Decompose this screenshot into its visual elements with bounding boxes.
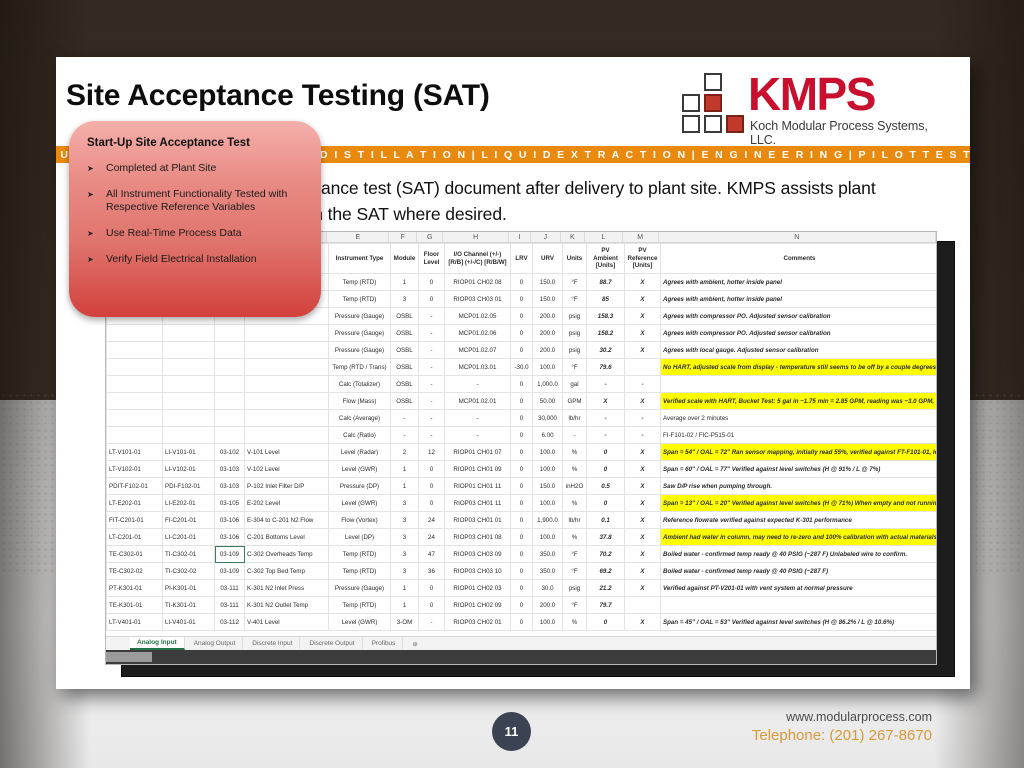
cell-urv[interactable]: 200.0 [533, 342, 563, 359]
table-row[interactable]: Pressure (Gauge)OSBL-MCP01.02.060200.0ps… [107, 325, 938, 342]
cell-comment[interactable]: Agrees with compressor PO. Adjusted sens… [661, 325, 938, 342]
cell-units[interactable]: psig [563, 325, 587, 342]
cell-service[interactable]: V-102 Level [245, 461, 329, 478]
cell-urv[interactable]: 100.0 [533, 495, 563, 512]
cell-pv-reference[interactable]: - [625, 427, 661, 444]
column-letter-j[interactable]: J [531, 232, 561, 242]
cell-type[interactable]: Pressure (DP) [329, 478, 391, 495]
table-row[interactable]: Calc (Ratio)---06.00---FI-F101-02 / FIC-… [107, 427, 938, 444]
cell-lrv[interactable]: 0 [511, 342, 533, 359]
cell-units[interactable]: % [563, 461, 587, 478]
table-row[interactable]: FIT-C201-01FI-C201-0103-106E-304 to C-20… [107, 512, 938, 529]
cell-tag[interactable] [107, 376, 163, 393]
cell-floor[interactable]: - [419, 342, 445, 359]
cell-module[interactable]: 3-OM [391, 614, 419, 631]
cell-pv-ambient[interactable]: 37.8 [587, 529, 625, 546]
cell-pv-reference[interactable]: X [625, 342, 661, 359]
cell-module[interactable]: OSBL [391, 376, 419, 393]
table-row[interactable]: PDIT-F102-01PDI-F102-0103-103P-102 Inlet… [107, 478, 938, 495]
cell-pv-ambient[interactable]: 69.2 [587, 563, 625, 580]
cell-units[interactable]: lb/hr [563, 410, 587, 427]
cell-service[interactable]: C-201 Bottoms Level [245, 529, 329, 546]
cell-service[interactable] [245, 359, 329, 376]
sheet-tab-discrete-output[interactable]: Discrete Output [302, 638, 362, 649]
cell-tag[interactable]: LT-V401-01 [107, 614, 163, 631]
cell-pv-ambient[interactable]: X [587, 393, 625, 410]
cell-pv-reference[interactable]: X [625, 308, 661, 325]
cell-comment[interactable]: Span = 60" / OAL = 77" Verified against … [661, 461, 938, 478]
cell-floor[interactable]: - [419, 359, 445, 376]
cell-type[interactable]: Pressure (Gauge) [329, 580, 391, 597]
cell-pv-reference[interactable]: X [625, 291, 661, 308]
cell-pv-ambient[interactable]: 79.6 [587, 359, 625, 376]
cell-comment[interactable]: FI-F101-02 / FIC-P515-01 [661, 427, 938, 444]
cell-pv-ambient[interactable]: 0 [587, 614, 625, 631]
cell-urv[interactable]: 100.0 [533, 529, 563, 546]
cell-lrv[interactable]: 0 [511, 461, 533, 478]
cell-service[interactable] [245, 342, 329, 359]
cell-pv-reference[interactable]: - [625, 376, 661, 393]
cell-urv[interactable]: 100.0 [533, 461, 563, 478]
scrollbar-thumb[interactable] [106, 652, 152, 662]
cell-module[interactable]: OSBL [391, 308, 419, 325]
cell-pv-ambient[interactable]: 0.5 [587, 478, 625, 495]
table-row[interactable]: TE-C302-01TI-C302-0103-109C-302 Overhead… [107, 546, 938, 563]
cell-comment[interactable]: Span = 45" / OAL = 53" Verified against … [661, 614, 938, 631]
cell-tag[interactable] [107, 359, 163, 376]
cell-tag[interactable]: TE-K301-01 [107, 597, 163, 614]
cell-urv[interactable]: 150.0 [533, 291, 563, 308]
sheet-tab-analog-output[interactable]: Analog Output [187, 638, 244, 649]
cell-lrv[interactable]: 0 [511, 291, 533, 308]
cell-module[interactable]: 3 [391, 529, 419, 546]
cell-pv-reference[interactable] [625, 359, 661, 376]
cell-comment[interactable]: Span = 13" / OAL = 20" Verified against … [661, 495, 938, 512]
cell-lrv[interactable]: 0 [511, 529, 533, 546]
cell-pv-reference[interactable]: X [625, 478, 661, 495]
cell-tag[interactable] [107, 325, 163, 342]
cell-dwg[interactable]: 03-111 [215, 580, 245, 597]
cell-dwg[interactable] [215, 342, 245, 359]
cell-lrv[interactable]: 0 [511, 512, 533, 529]
cell-lrv[interactable]: -30.0 [511, 359, 533, 376]
cell-io[interactable]: RIOP03 CH02 01 [445, 614, 511, 631]
cell-service[interactable]: E-202 Level [245, 495, 329, 512]
cell-floor[interactable]: 0 [419, 597, 445, 614]
cell-comment[interactable]: Verified against PT-V201-01 with vent sy… [661, 580, 938, 597]
cell-comment[interactable]: Span = 54" / OAL = 72" Ran sensor mappin… [661, 444, 938, 461]
cell-units[interactable]: °F [563, 563, 587, 580]
cell-pv-ambient[interactable]: - [587, 410, 625, 427]
cell-floor[interactable]: - [419, 614, 445, 631]
cell-comment[interactable]: No HART, adjusted scale from display - t… [661, 359, 938, 376]
cell-type[interactable]: Calc (Ratio) [329, 427, 391, 444]
cell-pv-reference[interactable]: X [625, 512, 661, 529]
cell-units[interactable]: psig [563, 342, 587, 359]
cell-type[interactable]: Level (GWR) [329, 495, 391, 512]
column-letter-k[interactable]: K [561, 232, 585, 242]
cell-comment[interactable]: Verified scale with HART, Bucket Test: 5… [661, 393, 938, 410]
cell-urv[interactable]: 50.00 [533, 393, 563, 410]
column-letter-i[interactable]: I [509, 232, 531, 242]
cell-comment[interactable]: Boiled water - confirmed temp ready @ 40… [661, 563, 938, 580]
cell-floor[interactable]: 0 [419, 580, 445, 597]
cell-pv-ambient[interactable]: 0 [587, 444, 625, 461]
cell-pv-ambient[interactable]: 79.7 [587, 597, 625, 614]
cell-units[interactable]: psig [563, 580, 587, 597]
cell-units[interactable]: lb/hr [563, 512, 587, 529]
cell-type[interactable]: Temp (RTD) [329, 546, 391, 563]
sheet-tab-analog-input[interactable]: Analog Input [130, 637, 185, 650]
cell-dwg[interactable] [215, 410, 245, 427]
table-row[interactable]: Calc (Average)---030,000lb/hr--Average o… [107, 410, 938, 427]
cell-module[interactable]: 3 [391, 495, 419, 512]
cell-indicator[interactable]: LI-E202-01 [163, 495, 215, 512]
table-row[interactable]: Temp (RTD / Trans)OSBL-MCP01.03.01-30.01… [107, 359, 938, 376]
cell-tag[interactable]: PT-K301-01 [107, 580, 163, 597]
cell-tag[interactable] [107, 393, 163, 410]
cell-comment[interactable]: Agrees with local gauge. Adjusted sensor… [661, 342, 938, 359]
cell-urv[interactable]: 100.0 [533, 444, 563, 461]
cell-pv-ambient[interactable]: 70.2 [587, 546, 625, 563]
cell-floor[interactable]: - [419, 376, 445, 393]
cell-tag[interactable]: TE-C302-02 [107, 563, 163, 580]
cell-service[interactable]: V-401 Level [245, 614, 329, 631]
table-row[interactable]: LT-E202-01LI-E202-0103-105E-202 LevelLev… [107, 495, 938, 512]
cell-floor[interactable]: 24 [419, 512, 445, 529]
cell-units[interactable]: °F [563, 546, 587, 563]
cell-urv[interactable]: 350.0 [533, 546, 563, 563]
cell-comment[interactable]: Boiled water - confirmed temp ready @ 40… [661, 546, 938, 563]
cell-io[interactable]: RIOP01 CH01 09 [445, 461, 511, 478]
cell-units[interactable]: % [563, 495, 587, 512]
cell-floor[interactable]: - [419, 393, 445, 410]
cell-floor[interactable]: 12 [419, 444, 445, 461]
cell-io[interactable]: MCP01.02.01 [445, 393, 511, 410]
cell-dwg[interactable] [215, 325, 245, 342]
cell-type[interactable]: Temp (RTD) [329, 597, 391, 614]
cell-urv[interactable]: 100.0 [533, 359, 563, 376]
cell-indicator[interactable]: PDI-F102-01 [163, 478, 215, 495]
cell-units[interactable]: °F [563, 359, 587, 376]
cell-module[interactable]: 3 [391, 291, 419, 308]
cell-units[interactable]: % [563, 529, 587, 546]
cell-io[interactable]: - [445, 376, 511, 393]
cell-module[interactable]: 1 [391, 461, 419, 478]
cell-comment[interactable]: Agrees with compressor PO. Adjusted sens… [661, 308, 938, 325]
cell-dwg[interactable]: 03-109 [215, 563, 245, 580]
cell-service[interactable]: P-102 Inlet Filter D/P [245, 478, 329, 495]
cell-comment[interactable]: Reference flowrate verified against expe… [661, 512, 938, 529]
table-row[interactable]: LT-C201-01LI-C201-0103-106C-201 Bottoms … [107, 529, 938, 546]
cell-module[interactable]: 3 [391, 563, 419, 580]
cell-units[interactable]: % [563, 614, 587, 631]
cell-lrv[interactable]: 0 [511, 308, 533, 325]
table-row[interactable]: LT-V101-01LI-V101-0103-102V-101 LevelLev… [107, 444, 938, 461]
cell-type[interactable]: Pressure (Gauge) [329, 342, 391, 359]
cell-type[interactable]: Pressure (Gauge) [329, 308, 391, 325]
cell-module[interactable]: - [391, 410, 419, 427]
cell-lrv[interactable]: 0 [511, 444, 533, 461]
cell-lrv[interactable]: 0 [511, 495, 533, 512]
cell-floor[interactable]: - [419, 308, 445, 325]
cell-lrv[interactable]: 0 [511, 393, 533, 410]
cell-indicator[interactable]: PI-K301-01 [163, 580, 215, 597]
cell-units[interactable]: gal [563, 376, 587, 393]
cell-module[interactable]: 3 [391, 512, 419, 529]
cell-units[interactable]: psig [563, 308, 587, 325]
cell-floor[interactable]: 0 [419, 274, 445, 291]
cell-indicator[interactable]: LI-C201-01 [163, 529, 215, 546]
cell-lrv[interactable]: 0 [511, 563, 533, 580]
cell-io[interactable]: MCP01.02.05 [445, 308, 511, 325]
cell-module[interactable]: 1 [391, 580, 419, 597]
cell-pv-ambient[interactable]: 0 [587, 461, 625, 478]
cell-indicator[interactable]: LI-V102-01 [163, 461, 215, 478]
cell-pv-reference[interactable]: X [625, 614, 661, 631]
cell-urv[interactable]: 200.0 [533, 325, 563, 342]
cell-pv-reference[interactable]: X [625, 563, 661, 580]
cell-urv[interactable]: 1,900.0 [533, 512, 563, 529]
cell-tag[interactable] [107, 410, 163, 427]
cell-pv-reference[interactable]: X [625, 546, 661, 563]
cell-floor[interactable]: - [419, 325, 445, 342]
cell-pv-reference[interactable]: X [625, 274, 661, 291]
cell-type[interactable]: Flow (Vortex) [329, 512, 391, 529]
sheet-tab-profibus[interactable]: Profibus [365, 638, 404, 649]
cell-comment[interactable]: Agrees with ambient, hotter inside panel [661, 291, 938, 308]
cell-pv-ambient[interactable]: 0 [587, 495, 625, 512]
cell-units[interactable]: °F [563, 291, 587, 308]
cell-service[interactable]: C-302 Top Bed Temp [245, 563, 329, 580]
cell-units[interactable]: °F [563, 597, 587, 614]
cell-urv[interactable]: 30.0 [533, 580, 563, 597]
cell-type[interactable]: Flow (Mass) [329, 393, 391, 410]
cell-dwg[interactable] [215, 376, 245, 393]
column-letter-m[interactable]: M [623, 232, 659, 242]
cell-tag[interactable]: FIT-C201-01 [107, 512, 163, 529]
cell-dwg[interactable]: 03-103 [215, 478, 245, 495]
cell-pv-ambient[interactable]: - [587, 376, 625, 393]
cell-io[interactable]: RIOP01 CH02 03 [445, 580, 511, 597]
cell-io[interactable]: RIOP01 CH01 07 [445, 444, 511, 461]
cell-service[interactable]: V-101 Level [245, 444, 329, 461]
cell-type[interactable]: Temp (RTD) [329, 291, 391, 308]
cell-type[interactable]: Calc (Totalizer) [329, 376, 391, 393]
cell-indicator[interactable]: LI-V401-01 [163, 614, 215, 631]
table-row[interactable]: Flow (Mass)OSBL-MCP01.02.01050.00GPMXXVe… [107, 393, 938, 410]
cell-indicator[interactable] [163, 427, 215, 444]
cell-urv[interactable]: 150.0 [533, 478, 563, 495]
cell-pv-ambient[interactable]: 88.7 [587, 274, 625, 291]
cell-floor[interactable]: 0 [419, 495, 445, 512]
cell-io[interactable]: RIOP03 CH03 01 [445, 291, 511, 308]
cell-dwg[interactable]: 03-112 [215, 614, 245, 631]
cell-indicator[interactable]: TI-C302-02 [163, 563, 215, 580]
cell-service[interactable] [245, 410, 329, 427]
cell-dwg[interactable]: 03-103 [215, 461, 245, 478]
cell-units[interactable]: inH2O [563, 478, 587, 495]
cell-pv-ambient[interactable]: 0.1 [587, 512, 625, 529]
cell-module[interactable]: 1 [391, 597, 419, 614]
cell-type[interactable]: Calc (Average) [329, 410, 391, 427]
cell-indicator[interactable]: FI-C201-01 [163, 512, 215, 529]
cell-service[interactable]: K-301 N2 Inlet Press [245, 580, 329, 597]
cell-lrv[interactable]: 0 [511, 410, 533, 427]
cell-service[interactable] [245, 376, 329, 393]
cell-dwg[interactable]: 03-111 [215, 597, 245, 614]
cell-indicator[interactable] [163, 325, 215, 342]
cell-pv-reference[interactable]: X [625, 444, 661, 461]
cell-service[interactable] [245, 427, 329, 444]
cell-pv-reference[interactable]: X [625, 325, 661, 342]
cell-floor[interactable]: 0 [419, 478, 445, 495]
cell-tag[interactable]: PDIT-F102-01 [107, 478, 163, 495]
cell-floor[interactable]: 24 [419, 529, 445, 546]
cell-type[interactable]: Temp (RTD) [329, 274, 391, 291]
cell-dwg[interactable] [215, 359, 245, 376]
cell-io[interactable]: RIOP01 CH01 11 [445, 478, 511, 495]
cell-pv-reference[interactable]: X [625, 393, 661, 410]
cell-type[interactable]: Level (GWR) [329, 614, 391, 631]
cell-urv[interactable]: 200.0 [533, 308, 563, 325]
cell-urv[interactable]: 350.0 [533, 563, 563, 580]
cell-lrv[interactable]: 0 [511, 325, 533, 342]
column-letter-n[interactable]: N [659, 232, 936, 242]
cell-dwg[interactable]: 03-109 [215, 546, 245, 563]
cell-io[interactable]: RIOP01 CH02 09 [445, 597, 511, 614]
cell-urv[interactable]: 150.0 [533, 274, 563, 291]
table-row[interactable]: TE-C302-02TI-C302-0203-109C-302 Top Bed … [107, 563, 938, 580]
cell-lrv[interactable]: 0 [511, 597, 533, 614]
cell-lrv[interactable]: 0 [511, 274, 533, 291]
cell-service[interactable]: C-302 Overheads Temp [245, 546, 329, 563]
cell-service[interactable] [245, 393, 329, 410]
cell-dwg[interactable]: 03-105 [215, 495, 245, 512]
cell-pv-ambient[interactable]: 158.3 [587, 308, 625, 325]
cell-io[interactable]: RIOP03 CH03 10 [445, 563, 511, 580]
cell-type[interactable]: Pressure (Gauge) [329, 325, 391, 342]
cell-io[interactable]: - [445, 427, 511, 444]
table-row[interactable]: PT-K301-01PI-K301-0103-111K-301 N2 Inlet… [107, 580, 938, 597]
cell-tag[interactable]: LT-C201-01 [107, 529, 163, 546]
sheet-tab-discrete-input[interactable]: Discrete Input [245, 638, 300, 649]
column-letter-g[interactable]: G [417, 232, 443, 242]
cell-tag[interactable] [107, 342, 163, 359]
table-row[interactable]: TE-K301-01TI-K301-0103-111K-301 N2 Outle… [107, 597, 938, 614]
cell-pv-ambient[interactable]: - [587, 427, 625, 444]
cell-comment[interactable]: Average over 2 minutes [661, 410, 938, 427]
cell-dwg[interactable]: 03-102 [215, 444, 245, 461]
column-letter-h[interactable]: H [443, 232, 509, 242]
cell-floor[interactable]: - [419, 410, 445, 427]
cell-urv[interactable]: 6.00 [533, 427, 563, 444]
cell-module[interactable]: 2 [391, 444, 419, 461]
cell-tag[interactable]: LT-E202-01 [107, 495, 163, 512]
cell-lrv[interactable]: 0 [511, 376, 533, 393]
cell-comment[interactable]: Ambient had water in column, may need to… [661, 529, 938, 546]
cell-module[interactable]: OSBL [391, 325, 419, 342]
cell-urv[interactable]: 30,000 [533, 410, 563, 427]
table-row[interactable]: LT-V102-01LI-V102-0103-103V-102 LevelLev… [107, 461, 938, 478]
cell-pv-reference[interactable]: X [625, 580, 661, 597]
cell-units[interactable]: GPM [563, 393, 587, 410]
cell-dwg[interactable] [215, 427, 245, 444]
cell-io[interactable]: RIOP03 CH01 01 [445, 512, 511, 529]
cell-lrv[interactable]: 0 [511, 614, 533, 631]
cell-indicator[interactable]: TI-K301-01 [163, 597, 215, 614]
cell-indicator[interactable] [163, 393, 215, 410]
cell-tag[interactable]: TE-C302-01 [107, 546, 163, 563]
cell-urv[interactable]: 200.0 [533, 597, 563, 614]
horizontal-scrollbar[interactable] [106, 650, 937, 664]
cell-module[interactable]: OSBL [391, 393, 419, 410]
cell-urv[interactable]: 1,000.0 [533, 376, 563, 393]
cell-io[interactable]: RIOP03 CH03 09 [445, 546, 511, 563]
cell-lrv[interactable]: 0 [511, 546, 533, 563]
cell-floor[interactable]: 47 [419, 546, 445, 563]
add-sheet-icon[interactable]: ⊕ [405, 638, 424, 650]
cell-pv-reference[interactable] [625, 597, 661, 614]
cell-urv[interactable]: 100.0 [533, 614, 563, 631]
table-row[interactable]: Pressure (Gauge)OSBL-MCP01.02.070200.0ps… [107, 342, 938, 359]
cell-units[interactable]: °F [563, 274, 587, 291]
cell-comment[interactable] [661, 597, 938, 614]
cell-tag[interactable]: LT-V101-01 [107, 444, 163, 461]
cell-module[interactable]: - [391, 427, 419, 444]
cell-io[interactable]: RIOP01 CH02 08 [445, 274, 511, 291]
cell-io[interactable]: MCP01.03.01 [445, 359, 511, 376]
cell-service[interactable]: K-301 N2 Outlet Temp [245, 597, 329, 614]
cell-service[interactable]: E-304 to C-201 N2 Flow [245, 512, 329, 529]
cell-comment[interactable]: Agrees with ambient, hotter inside panel [661, 274, 938, 291]
cell-io[interactable]: - [445, 410, 511, 427]
cell-type[interactable]: Level (DP) [329, 529, 391, 546]
cell-pv-reference[interactable]: X [625, 529, 661, 546]
cell-tag[interactable] [107, 427, 163, 444]
cell-pv-reference[interactable]: - [625, 410, 661, 427]
sheet-tab-bar[interactable]: Analog InputAnalog OutputDiscrete InputD… [106, 636, 937, 650]
cell-comment[interactable]: Saw D/P rise when pumping through. [661, 478, 938, 495]
cell-module[interactable]: OSBL [391, 359, 419, 376]
cell-service[interactable] [245, 325, 329, 342]
cell-pv-reference[interactable]: X [625, 461, 661, 478]
cell-io[interactable]: RIOP03 CH01 08 [445, 529, 511, 546]
cell-floor[interactable]: 0 [419, 291, 445, 308]
cell-indicator[interactable] [163, 359, 215, 376]
cell-type[interactable]: Temp (RTD) [329, 563, 391, 580]
cell-io[interactable]: RIOP03 CH01 11 [445, 495, 511, 512]
cell-pv-ambient[interactable]: 21.2 [587, 580, 625, 597]
cell-lrv[interactable]: 0 [511, 427, 533, 444]
column-letter-f[interactable]: F [389, 232, 417, 242]
cell-indicator[interactable]: TI-C302-01 [163, 546, 215, 563]
cell-dwg[interactable]: 03-106 [215, 512, 245, 529]
cell-dwg[interactable]: 03-106 [215, 529, 245, 546]
cell-indicator[interactable]: LI-V101-01 [163, 444, 215, 461]
cell-module[interactable]: 1 [391, 478, 419, 495]
cell-lrv[interactable]: 0 [511, 478, 533, 495]
cell-pv-reference[interactable]: X [625, 495, 661, 512]
cell-pv-ambient[interactable]: 30.2 [587, 342, 625, 359]
cell-floor[interactable]: 0 [419, 461, 445, 478]
table-row[interactable]: LT-V401-01LI-V401-0103-112V-401 LevelLev… [107, 614, 938, 631]
cell-pv-ambient[interactable]: 85 [587, 291, 625, 308]
cell-indicator[interactable] [163, 410, 215, 427]
column-letter-e[interactable]: E [327, 232, 389, 242]
cell-io[interactable]: MCP01.02.06 [445, 325, 511, 342]
cell-module[interactable]: 1 [391, 274, 419, 291]
